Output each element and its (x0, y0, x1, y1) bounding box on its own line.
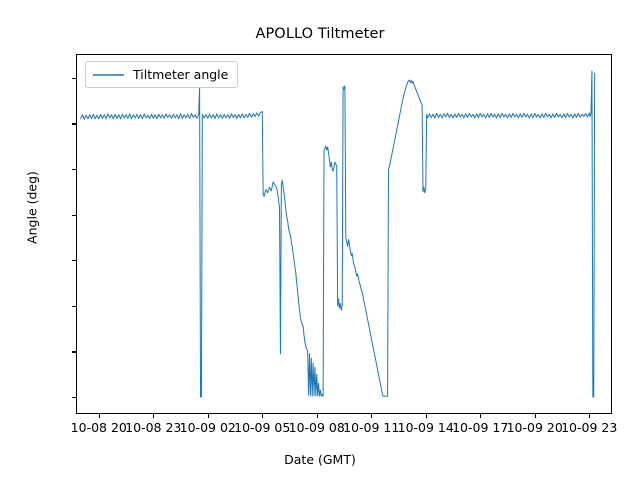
y-tick-mark (72, 260, 76, 261)
x-tick-mark (480, 414, 481, 418)
x-tick-mark (535, 414, 536, 418)
y-tick-mark (72, 123, 76, 124)
legend-label-tiltmeter-angle: Tiltmeter angle (133, 67, 228, 82)
y-tick-mark (72, 215, 76, 216)
x-tick-mark (153, 414, 154, 418)
x-tick-mark (371, 414, 372, 418)
x-tick-mark (589, 414, 590, 418)
x-tick-mark (426, 414, 427, 418)
series-line-tiltmeter-angle (81, 71, 595, 397)
x-tick-label: 10-09 23 (529, 420, 640, 435)
plot-svg (77, 55, 611, 413)
y-tick-mark (72, 351, 76, 352)
chart-legend: Tiltmeter angle (85, 61, 238, 88)
y-tick-mark (72, 397, 76, 398)
y-tick-mark (72, 78, 76, 79)
x-axis-label: Date (GMT) (0, 452, 640, 467)
y-axis-label: Angle (deg) (25, 58, 40, 358)
x-tick-mark (208, 414, 209, 418)
legend-line-swatch (93, 74, 124, 76)
chart-figure: APOLLO Tiltmeter Angle (deg) 01020304050… (0, 0, 640, 480)
x-tick-mark (99, 414, 100, 418)
chart-title: APOLLO Tiltmeter (0, 26, 640, 42)
y-tick-mark (72, 169, 76, 170)
y-tick-mark (72, 306, 76, 307)
x-tick-mark (262, 414, 263, 418)
x-tick-mark (317, 414, 318, 418)
plot-area (76, 54, 612, 414)
